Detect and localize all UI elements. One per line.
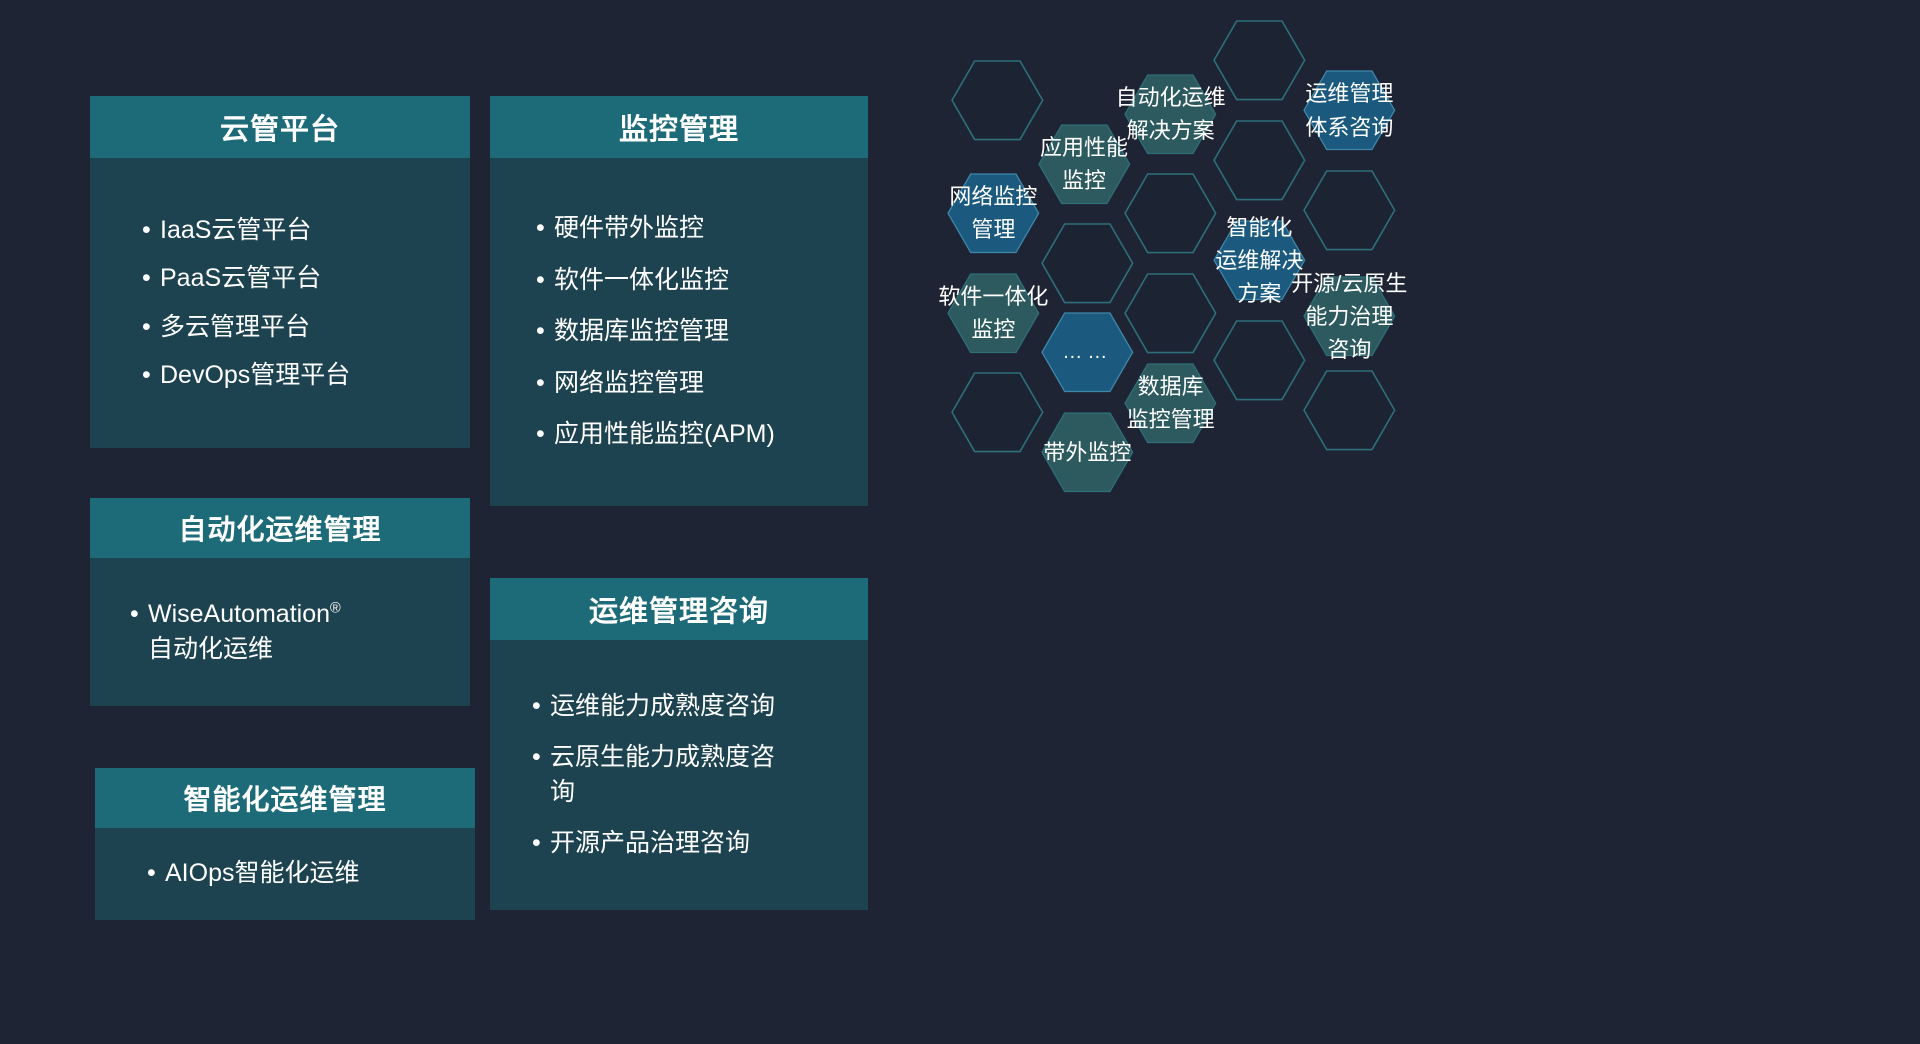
card-body: 硬件带外监控软件一体化监控数据库监控管理网络监控管理应用性能监控(APM) — [490, 158, 868, 506]
hexagon-shape — [1042, 313, 1133, 392]
hexagon-shape — [952, 61, 1043, 140]
card-list-item: 云原生能力成熟度咨询 — [528, 740, 854, 811]
hex-empty — [1304, 171, 1395, 250]
card-list-item: 网络监控管理 — [532, 366, 854, 402]
card-list-item: PaaS云管平台 — [138, 261, 454, 297]
hex-empty — [1125, 274, 1216, 353]
hex-empty — [1214, 21, 1305, 100]
card-body: AIOps智能化运维 — [95, 828, 475, 920]
hexagon-shape — [1304, 71, 1395, 150]
card-body: IaaS云管平台PaaS云管平台多云管理平台DevOps管理平台 — [90, 158, 470, 448]
capability-cards-panel: 云管平台IaaS云管平台PaaS云管平台多云管理平台DevOps管理平台自动化运… — [0, 0, 900, 1044]
hex-ops-consulting[interactable]: 运维管理体系咨询 — [1304, 71, 1395, 150]
hex-empty — [1304, 371, 1395, 450]
card-title: 云管平台 — [90, 96, 470, 158]
hex-automation-solution[interactable]: 自动化运维解决方案 — [1125, 75, 1216, 154]
card-list-item-text: 软件一体化监控 — [554, 266, 729, 294]
card-list-item: 应用性能监控(APM) — [532, 417, 854, 453]
card-item-list: IaaS云管平台PaaS云管平台多云管理平台DevOps管理平台 — [138, 200, 454, 407]
hexagon-shape — [948, 274, 1039, 353]
hexagon-shape — [1214, 221, 1305, 300]
hexagon-shape — [1125, 364, 1216, 443]
hex-aiops-solution[interactable]: 智能化运维解决方案 — [1214, 221, 1305, 300]
card-list-item-text: 云原生能力成熟度咨 — [550, 743, 775, 771]
capability-card: 自动化运维管理WiseAutomation®自动化运维 — [90, 498, 470, 706]
card-title: 运维管理咨询 — [490, 578, 868, 640]
card-item-list: 运维能力成熟度咨询云原生能力成熟度咨询开源产品治理咨询 — [528, 674, 854, 876]
hexagon-shape — [1125, 174, 1216, 253]
hexagon-shape — [1125, 274, 1216, 353]
card-list-item-text: 运维能力成熟度咨询 — [550, 692, 775, 720]
hex-out-of-band[interactable]: 带外监控 — [1042, 413, 1133, 492]
hexagon-shape — [1042, 224, 1133, 303]
card-list-item: AIOps智能化运维 — [143, 856, 463, 892]
hexagon-shape — [952, 373, 1043, 452]
card-title: 智能化运维管理 — [95, 768, 475, 828]
card-list-item-text: DevOps管理平台 — [160, 361, 350, 389]
card-list-item: 硬件带外监控 — [532, 211, 854, 247]
card-list-item-text: PaaS云管平台 — [160, 264, 321, 292]
card-list-item: 软件一体化监控 — [532, 263, 854, 299]
capability-card: 监控管理硬件带外监控软件一体化监控数据库监控管理网络监控管理应用性能监控(APM… — [490, 96, 868, 506]
hex-empty — [952, 373, 1043, 452]
registered-trademark-icon: ® — [330, 600, 341, 616]
hex-empty — [1214, 121, 1305, 200]
card-list-item: IaaS云管平台 — [138, 213, 454, 249]
capability-card: 云管平台IaaS云管平台PaaS云管平台多云管理平台DevOps管理平台 — [90, 96, 470, 448]
card-list-item-text: 多云管理平台 — [160, 313, 310, 341]
hex-network-monitoring[interactable]: 网络监控管理 — [948, 174, 1039, 253]
capability-card: 运维管理咨询运维能力成熟度咨询云原生能力成熟度咨询开源产品治理咨询 — [490, 578, 868, 910]
hexagon-shape — [1304, 171, 1395, 250]
card-list-item: 数据库监控管理 — [532, 314, 854, 350]
capability-card: 智能化运维管理AIOps智能化运维 — [95, 768, 475, 920]
hex-empty — [1214, 321, 1305, 400]
infographic-canvas: 云管平台IaaS云管平台PaaS云管平台多云管理平台DevOps管理平台自动化运… — [0, 0, 1920, 1044]
card-list-item-subtext: 自动化运维 — [148, 632, 456, 668]
card-list-item-text: WiseAutomation — [148, 600, 330, 628]
card-list-item: DevOps管理平台 — [138, 358, 454, 394]
card-list-item-text: 数据库监控管理 — [554, 317, 729, 345]
card-item-list: 硬件带外监控软件一体化监控数据库监控管理网络监控管理应用性能监控(APM) — [532, 195, 854, 469]
card-list-item-text: 网络监控管理 — [554, 369, 704, 397]
hexagon-shape — [1214, 321, 1305, 400]
card-list-item: 多云管理平台 — [138, 310, 454, 346]
hex-empty — [1125, 174, 1216, 253]
hex-database-monitoring[interactable]: 数据库监控管理 — [1125, 364, 1216, 443]
hexagon-shape — [1214, 21, 1305, 100]
hexagon-shape — [1039, 125, 1130, 204]
hex-opensource-consulting[interactable]: 开源/云原生能力治理咨询 — [1304, 277, 1395, 356]
hex-apm[interactable]: 应用性能监控 — [1039, 125, 1130, 204]
hexagon-cluster: 网络监控管理软件一体化监控应用性能监控……带外监控自动化运维解决方案数据库监控管… — [930, 0, 1920, 1044]
card-body: 运维能力成熟度咨询云原生能力成熟度咨询开源产品治理咨询 — [490, 640, 868, 910]
card-list-item-subtext: 询 — [550, 775, 854, 811]
hex-software-monitoring[interactable]: 软件一体化监控 — [948, 274, 1039, 353]
card-title: 监控管理 — [490, 96, 868, 158]
card-item-list: AIOps智能化运维 — [143, 856, 463, 892]
hexagon-shape — [1304, 371, 1395, 450]
hex-empty — [1042, 224, 1133, 303]
card-list-item-text: 应用性能监控(APM) — [554, 420, 775, 448]
hex-empty — [952, 61, 1043, 140]
hexagon-shape — [1125, 75, 1216, 154]
hexagon-shape — [948, 174, 1039, 253]
card-list-item: 运维能力成熟度咨询 — [528, 689, 854, 725]
card-list-item-text: 硬件带外监控 — [554, 214, 704, 242]
card-title: 自动化运维管理 — [90, 498, 470, 558]
hexagon-shape — [1214, 121, 1305, 200]
card-list-item-text: AIOps智能化运维 — [165, 859, 359, 887]
card-list-item-text: IaaS云管平台 — [160, 216, 311, 244]
card-item-list: WiseAutomation®自动化运维 — [126, 597, 456, 668]
card-list-item: 开源产品治理咨询 — [528, 826, 854, 862]
card-list-item: WiseAutomation®自动化运维 — [126, 597, 456, 668]
hex-ellipsis[interactable]: …… — [1042, 313, 1133, 392]
card-body: WiseAutomation®自动化运维 — [90, 558, 470, 706]
hexagon-shape — [1042, 413, 1133, 492]
card-list-item-text: 开源产品治理咨询 — [550, 829, 750, 857]
hexagon-shape — [1304, 277, 1395, 356]
